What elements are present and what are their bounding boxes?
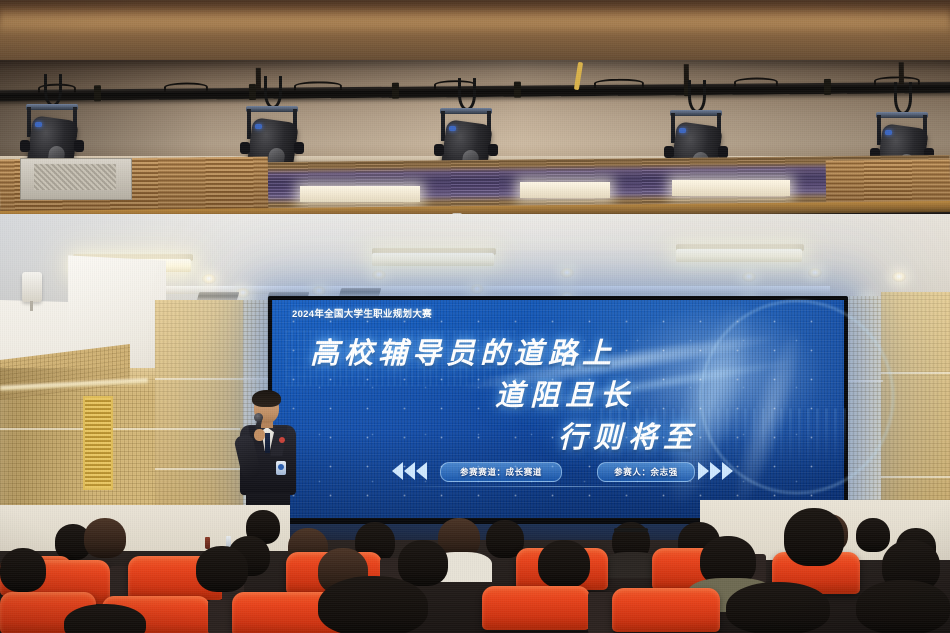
- chevron-left-icon: [404, 462, 415, 480]
- audience-head: [398, 540, 448, 586]
- speaker-mount-stem: [30, 301, 33, 311]
- wall-panel-seam: [0, 428, 240, 430]
- spotlight-status-led: [679, 128, 686, 133]
- yellow-return-air-grille: [83, 396, 113, 490]
- wall-mounted-speaker: [22, 272, 42, 302]
- slide-footer-rule: [392, 486, 722, 487]
- spotlight-knob: [20, 140, 30, 152]
- truss-clamp: [514, 82, 521, 98]
- audience-head: [856, 518, 890, 552]
- slide-title-line-2: 道阻且长: [495, 372, 635, 414]
- audience-head: [538, 540, 590, 588]
- auditorium-seat: [612, 588, 720, 632]
- spotlight-yoke-bar: [876, 112, 928, 118]
- spotlight-knob: [664, 146, 674, 158]
- chevron-left-group: [392, 462, 427, 480]
- auditorium-seat: [482, 586, 590, 630]
- slide-track-label: 参赛赛道：成长赛道: [440, 462, 562, 482]
- chevron-left-icon: [392, 462, 403, 480]
- chevron-right-icon: [698, 462, 709, 480]
- ceiling-linear-light: [676, 249, 802, 262]
- spotlight-hook: [688, 80, 706, 113]
- truss-cable: [734, 77, 778, 86]
- ceiling-linear-light: [520, 182, 610, 198]
- audience-head-foreground: [856, 580, 950, 633]
- spotlight-knob: [434, 144, 444, 156]
- slide-presenter-label: 参赛人：余志强: [597, 462, 695, 482]
- spotlight-status-led: [449, 126, 456, 131]
- spotlight-yoke-bar: [246, 106, 298, 112]
- seat-armrest: [588, 592, 614, 633]
- audience-head-foreground: [64, 604, 146, 633]
- spotlight-knob: [488, 144, 498, 156]
- ceiling-downlight: [560, 268, 574, 278]
- truss-cable: [594, 79, 644, 88]
- ceiling-downlight: [470, 284, 484, 294]
- slide-title-line-1: 高校辅导员的道路上: [310, 330, 616, 372]
- spotlight-status-led: [35, 122, 42, 127]
- presenter-hand: [254, 429, 265, 441]
- chevron-right-icon: [722, 462, 733, 480]
- truss-clamp: [824, 79, 831, 95]
- spotlight-yoke-bar: [440, 108, 492, 114]
- spotlight-yoke-bar: [26, 104, 78, 110]
- presenter-tie: [265, 433, 270, 453]
- slide-title-line-3: 行则将至: [558, 414, 698, 456]
- seat-armrest: [208, 600, 234, 633]
- spotlight-hook: [44, 74, 62, 107]
- ceiling-downlight: [372, 270, 386, 280]
- truss-cable: [164, 82, 208, 91]
- truss-drop-post: [256, 68, 261, 90]
- chevron-right-icon: [710, 462, 721, 480]
- eyeglasses-icon: [614, 528, 648, 532]
- truss-clamp: [392, 83, 399, 99]
- wall-panel-seam: [881, 476, 950, 478]
- audience-head: [196, 546, 248, 592]
- microphone-icon: [254, 413, 263, 422]
- ceiling-downlight: [202, 274, 216, 284]
- spotlight-status-led: [885, 130, 892, 135]
- chevron-right-group: [698, 462, 733, 480]
- spotlight-hook: [264, 76, 282, 109]
- spotlight-hook: [894, 82, 912, 115]
- spotlight-knob: [74, 140, 84, 152]
- truss-drop-post: [899, 62, 904, 84]
- presenter-hair: [252, 390, 281, 407]
- truss-clamp: [94, 85, 101, 101]
- audience-head: [84, 518, 126, 558]
- slide-kicker-text: 2024年全国大学生职业规划大赛: [292, 306, 432, 320]
- audience-head-foreground: [318, 576, 428, 633]
- slide-footer-bar: 参赛赛道：成长赛道 参赛人：余志强: [392, 458, 722, 486]
- spotlight-hook: [458, 78, 476, 111]
- spotlight-knob: [240, 142, 250, 154]
- ceiling-upper-sheen: [0, 6, 950, 36]
- spotlight-status-led: [255, 124, 262, 129]
- spotlight-knob: [294, 142, 304, 154]
- spotlight-yoke-bar: [670, 110, 722, 116]
- audience-head: [0, 548, 46, 592]
- ceiling-downlight: [808, 268, 822, 278]
- audience-head-foreground: [726, 582, 830, 633]
- wall-panel-seam: [155, 378, 277, 380]
- presenter-badge-emblem: [278, 464, 284, 470]
- ceiling-linear-light: [300, 186, 420, 202]
- chevron-left-icon: [416, 462, 427, 480]
- ceiling-linear-light: [372, 253, 494, 266]
- audience-head: [784, 508, 844, 566]
- ceiling-downlight: [312, 286, 326, 296]
- spotlight-knob: [718, 146, 728, 158]
- ceiling-linear-light: [672, 180, 790, 196]
- ac-vent-grille-mesh: [34, 164, 116, 190]
- ceiling-downlight: [892, 272, 906, 282]
- auditorium-photo: 2024年全国大学生职业规划大赛 高校辅导员的道路上 道阻且长 行则将至 参赛赛…: [0, 0, 950, 633]
- presenter-boutonniere: [279, 437, 285, 443]
